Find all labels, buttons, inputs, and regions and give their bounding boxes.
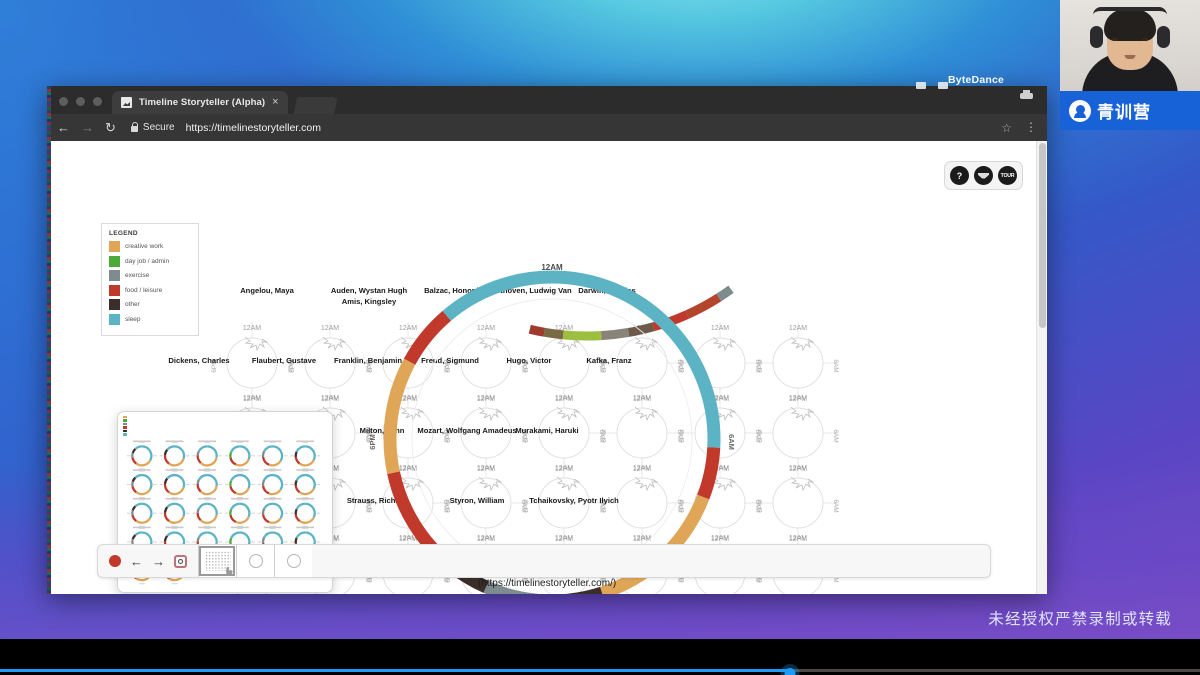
scene-ring-icon	[287, 554, 301, 568]
top-ring-segment[interactable]	[530, 329, 545, 332]
legend-item-label: food / leisure	[125, 287, 162, 294]
back-icon[interactable]: ←	[57, 121, 70, 134]
thumbnail-clock[interactable]	[160, 440, 190, 469]
thumbnail-ring-segment	[263, 480, 264, 486]
mini-clock: 12AM12PM6AM6PM	[757, 462, 839, 544]
thumbnail-ring-segment	[201, 515, 217, 523]
thumb-tick-left	[192, 513, 196, 514]
thumb-tick-right	[219, 541, 223, 542]
window-traffic-lights[interactable]	[55, 97, 112, 114]
thumbnail-ring-segment	[236, 488, 249, 494]
thumbnail-ring-segment	[300, 460, 314, 465]
ring-segment-sleep[interactable]	[552, 277, 714, 447]
headphone-left-icon	[1090, 26, 1103, 48]
ring-segment-other[interactable]	[569, 593, 602, 594]
preview-legend-swatch	[123, 416, 127, 418]
thumbnail-ring-segment	[201, 486, 217, 494]
clock-label-6pm: 6PM	[601, 429, 608, 442]
thumbnail-ring-segment	[240, 504, 250, 517]
video-progress-track[interactable]	[0, 669, 1200, 672]
thumb-tick-right	[153, 484, 157, 485]
thumbnail-clock[interactable]	[192, 498, 222, 527]
scene-thumbnail-2[interactable]	[236, 545, 274, 577]
person-name-label: Styron, William	[450, 496, 505, 505]
thumb-tick-top	[302, 442, 308, 443]
browser-url-bar: ← → ↻ Secure https://timelinestoryteller…	[47, 114, 1047, 141]
thumb-tick-right	[251, 484, 255, 485]
thumb-tick-left	[192, 484, 196, 485]
security-indicator: Secure	[131, 122, 175, 133]
thumb-tick-top	[237, 470, 243, 471]
thumbnail-ring-segment	[135, 475, 142, 478]
thumb-tick-right	[317, 541, 321, 542]
thumbnail-ring-segment	[198, 513, 201, 521]
thumbnail-ring-segment	[169, 516, 184, 523]
clock-scribble-icon	[401, 407, 423, 420]
screen-recording-frame: ByteDance Timeline Storyteller (Alpha) ×…	[0, 0, 1200, 675]
thumbnail-clock[interactable]	[258, 440, 288, 469]
hover-link-status: (https://timelinestoryteller.com/)	[47, 578, 1047, 589]
top-ring-segment[interactable]	[719, 289, 731, 297]
thumbnail-ring-segment	[231, 504, 240, 510]
thumb-tick-top	[204, 470, 210, 471]
clock-scribble-icon	[479, 407, 501, 420]
thumb-tick-left	[127, 541, 131, 542]
thumbnail-ring-segment	[133, 486, 137, 492]
thumb-tick-top	[270, 470, 276, 471]
thumbnail-ring-segment	[273, 446, 283, 461]
person-name-label: Murakami, Haruki	[515, 426, 578, 435]
clock-label-6pm: 6PM	[679, 429, 686, 442]
story-authoring-toolbar[interactable]: ← →	[97, 544, 991, 578]
desktop-icon-a	[916, 82, 926, 89]
thumbnail-ring-segment	[231, 532, 240, 538]
clock-scribble-icon	[479, 337, 501, 350]
thumbnail-clock[interactable]	[192, 440, 222, 469]
legend-item-label: sleep	[125, 316, 141, 323]
lock-icon	[131, 126, 138, 132]
export-icon	[978, 173, 989, 179]
thumbnail-ring-segment	[169, 487, 184, 494]
thumb-tick-right	[251, 513, 255, 514]
top-ring-segment[interactable]	[544, 332, 563, 335]
forward-icon[interactable]: →	[81, 121, 94, 134]
thumbnail-ring-segment	[296, 509, 297, 514]
thumbnail-ring-segment	[142, 475, 152, 489]
help-button[interactable]: ?	[950, 166, 969, 185]
thumbnail-ring-segment	[297, 504, 306, 509]
thumb-tick-left	[258, 541, 262, 542]
thumbnail-ring-segment	[231, 475, 240, 481]
thumbnail-ring-segment	[175, 446, 185, 458]
new-tab-button[interactable]	[294, 97, 338, 114]
thumb-tick-top	[270, 528, 276, 529]
legend-item[interactable]: creative work	[109, 241, 191, 252]
person-name-label: Amis, Kingsley	[342, 297, 397, 306]
thumb-tick-left	[290, 541, 294, 542]
thumb-tick-left	[225, 455, 229, 456]
thumbnail-ring-segment	[240, 446, 250, 459]
thumbnail-ring-segment	[167, 504, 174, 507]
legend-swatch-icon	[109, 285, 120, 296]
ring-segment-food---leisure[interactable]	[703, 447, 714, 497]
thumbnail-ring-segment	[135, 504, 142, 507]
browser-tab-timeline-storyteller[interactable]: Timeline Storyteller (Alpha) ×	[112, 91, 288, 114]
thumb-tick-left	[290, 513, 294, 514]
scene-grid-icon	[205, 551, 231, 571]
clock-label-12am: 12AM	[789, 325, 807, 332]
thumbnail-ring-segment	[198, 455, 201, 463]
thumbnail-ring-segment	[198, 537, 199, 541]
copyright-watermark: 未经授权严禁录制或转载	[988, 607, 1172, 629]
tab-title: Timeline Storyteller (Alpha)	[139, 97, 265, 108]
clock-label-12am: 12AM	[399, 325, 417, 332]
thumbnail-ring-segment	[231, 486, 236, 493]
thumbnail-ring-segment	[263, 514, 269, 522]
thumbnail-ring-segment	[207, 532, 217, 543]
legend-item-label: other	[125, 301, 140, 308]
thumbnail-ring-segment	[273, 504, 283, 519]
thumbnail-ring-segment	[305, 475, 315, 489]
page-scrollbar[interactable]	[1036, 141, 1047, 594]
thumbnail-ring-segment	[236, 459, 249, 465]
previous-scene-button[interactable]: ←	[130, 555, 143, 568]
thumbnail-clock[interactable]	[127, 440, 157, 469]
ring-segment-sleep[interactable]	[447, 277, 552, 316]
clock-label-12am: 12AM	[321, 325, 339, 332]
top-ring-segment[interactable]	[687, 298, 719, 315]
record-button[interactable]	[109, 555, 121, 567]
thumb-tick-top	[237, 442, 243, 443]
thumb-tick-top	[302, 470, 308, 471]
top-ring-segment[interactable]	[629, 327, 654, 333]
clock-label-6pm: 6PM	[757, 429, 764, 442]
clock-scribble-icon	[791, 407, 813, 420]
thumbnail-ring-segment	[269, 490, 281, 494]
address-input[interactable]: https://timelinestoryteller.com	[186, 122, 321, 134]
thumbnail-ring-segment	[165, 484, 169, 492]
thumbnail-ring-segment	[296, 457, 300, 463]
thumbnail-ring-segment	[231, 458, 236, 465]
browser-tab-bar: Timeline Storyteller (Alpha) ×	[47, 86, 1047, 114]
thumbnail-clock[interactable]	[192, 469, 222, 498]
close-window-dot[interactable]	[59, 97, 68, 106]
thumb-tick-right	[284, 513, 288, 514]
person-name-label: Flaubert, Gustave	[252, 356, 316, 365]
thumbnail-ring-segment	[165, 507, 167, 512]
window-edge-artifact	[47, 86, 51, 594]
thumbnail-ring-segment	[207, 446, 217, 457]
thumb-tick-left	[258, 484, 262, 485]
mini-clock: 12AM12PM6AM6PM	[757, 392, 839, 474]
clock-label-12am: 12AM	[243, 395, 261, 402]
clock-scribble-icon	[323, 337, 345, 350]
top-ring-segment[interactable]	[601, 332, 628, 335]
thumb-tick-top	[270, 442, 276, 443]
thumbnail-ring-segment	[207, 475, 217, 486]
clock-label-12am: 12AM	[711, 535, 729, 542]
close-icon[interactable]: ×	[272, 97, 278, 108]
next-scene-button[interactable]: →	[152, 555, 165, 568]
thumb-tick-left	[192, 541, 196, 542]
thumbnail-ring-segment	[133, 458, 137, 464]
clock-scribble-icon	[713, 477, 735, 490]
thumbnail-ring-segment	[296, 486, 300, 492]
legend-item[interactable]: exercise	[109, 270, 191, 281]
clock-label-6am: 6AM	[832, 499, 839, 512]
thumbnail-ring-segment	[136, 489, 150, 494]
person-name-label: Angelou, Maya	[240, 286, 294, 295]
thumb-tick-right	[219, 513, 223, 514]
clock-label-12am: 12AM	[243, 325, 261, 332]
thumb-tick-left	[258, 455, 262, 456]
clock-label-12am: 12AM	[633, 395, 651, 402]
thumb-tick-left	[192, 455, 196, 456]
thumbnail-clock[interactable]	[258, 469, 288, 498]
clock-label-12am: 12AM	[555, 395, 573, 402]
legend-item[interactable]: other	[109, 299, 191, 310]
thumb-tick-left	[127, 513, 131, 514]
video-player-bar[interactable]	[0, 639, 1200, 675]
thumb-tick-left	[225, 541, 229, 542]
thumbnail-ring-segment	[135, 532, 142, 535]
thumb-tick-top	[302, 528, 308, 529]
headphone-right-icon	[1157, 26, 1170, 48]
thumbnail-clock[interactable]	[290, 469, 320, 498]
scrollbar-thumb[interactable]	[1039, 143, 1046, 328]
thumbnail-ring-segment	[231, 446, 240, 452]
thumbnail-ring-segment	[296, 514, 300, 520]
thumbnail-ring-segment	[230, 481, 231, 486]
legend-swatch-icon	[109, 241, 120, 252]
person-name-label: Franklin, Benjamin	[334, 356, 402, 365]
person-name-label: Auden, Wystan Hugh	[331, 286, 408, 295]
thumb-tick-left	[160, 455, 164, 456]
thumbnail-ring-segment	[199, 532, 207, 537]
thumb-tick-top	[204, 442, 210, 443]
clock-scribble-icon	[635, 407, 657, 420]
thumbnail-ring-segment	[300, 489, 314, 494]
video-progress-handle[interactable]	[784, 668, 795, 675]
thumb-tick-top	[237, 528, 243, 529]
scene-thumbnail-3[interactable]	[274, 545, 312, 577]
export-button[interactable]	[974, 166, 993, 185]
printer-icon	[1020, 90, 1033, 100]
thumbnail-ring-segment	[135, 446, 142, 449]
thumb-tick-right	[186, 541, 190, 542]
thumbnail-ring-segment	[199, 446, 207, 451]
clock-scribble-icon	[791, 337, 813, 350]
thumb-tick-right	[153, 513, 157, 514]
thumb-tick-top	[204, 528, 210, 529]
top-ring-segment[interactable]	[563, 335, 601, 336]
legend-swatch-icon	[109, 270, 120, 281]
clock-label-12am: 12AM	[789, 535, 807, 542]
thumbnail-ring-segment	[264, 532, 272, 537]
clock-label-6am: 6AM	[832, 429, 839, 442]
clock-scribble-icon	[245, 337, 267, 350]
thumbnail-clock[interactable]	[160, 498, 190, 527]
thumbnail-ring-segment	[263, 451, 264, 457]
clock-scribble-icon	[557, 477, 579, 490]
thumb-tick-top	[139, 470, 145, 471]
clock-label-12am: 12AM	[789, 395, 807, 402]
clock-label-6pm: 6PM	[757, 499, 764, 512]
thumbnail-ring-segment	[199, 475, 207, 480]
thumb-tick-left	[127, 455, 131, 456]
thumbnail-ring-segment	[175, 504, 185, 516]
thumbnail-clock[interactable]	[290, 440, 320, 469]
clock-label-12am: 12AM	[477, 465, 495, 472]
thumbnail-ring-segment	[236, 517, 249, 523]
thumbnail-ring-segment	[167, 532, 174, 535]
person-name-label: Freud, Sigmund	[421, 356, 479, 365]
legend-swatch-icon	[109, 299, 120, 310]
web-page-content: 12AM12PM6AM6PM12AM12PM6AM6PM12AM12PM6AM6…	[47, 141, 1047, 594]
thumb-tick-top	[270, 499, 276, 500]
thumbnail-ring-segment	[264, 504, 272, 509]
thumb-tick-top	[172, 470, 178, 471]
thumbnail-ring-segment	[136, 518, 150, 523]
thumbnail-ring-segment	[305, 446, 315, 460]
thumb-tick-right	[186, 455, 190, 456]
thumbnail-clock[interactable]	[225, 498, 255, 527]
thumbnail-ring-segment	[296, 538, 297, 543]
browser-menu-icon[interactable]: ⋮	[1025, 123, 1037, 131]
clock-label-12am: 12AM	[477, 395, 495, 402]
mini-clock: 12AM12PM6AM6PM	[601, 392, 683, 474]
thumbnail-ring-segment	[165, 513, 169, 521]
thumbnail-ring-segment	[133, 449, 136, 453]
thumb-tick-right	[284, 541, 288, 542]
preview-legend-swatch	[123, 426, 127, 428]
main-clock-label-12am: 12AM	[541, 263, 563, 272]
main-clock-label-6pm: 6PM	[368, 434, 377, 449]
thumbnail-ring-segment	[165, 450, 167, 455]
reload-icon[interactable]: ↻	[105, 121, 116, 134]
thumb-tick-top	[172, 528, 178, 529]
thumb-tick-top	[237, 499, 243, 500]
person-name-label: Dickens, Charles	[168, 356, 229, 365]
thumbnail-ring-segment	[263, 486, 269, 494]
thumbnail-ring-segment	[133, 515, 137, 521]
thumbnail-ring-segment	[273, 475, 283, 490]
tab-favicon-icon	[121, 97, 132, 108]
thumb-tick-right	[284, 455, 288, 456]
desktop-icon-b	[938, 82, 948, 89]
thumbnail-clock[interactable]	[258, 498, 288, 527]
thumbnail-ring-segment	[142, 504, 152, 518]
thumbnail-ring-segment	[198, 451, 199, 455]
thumbnail-ring-segment	[198, 509, 199, 513]
thumb-tick-left	[258, 513, 262, 514]
clock-scribble-icon	[791, 477, 813, 490]
thumbnail-clock[interactable]	[127, 469, 157, 498]
thumbnail-ring-segment	[240, 475, 250, 488]
clock-label-12am: 12AM	[633, 465, 651, 472]
legend-item-label: exercise	[125, 272, 149, 279]
clock-label-12am: 12AM	[711, 325, 729, 332]
annotation-shape-button[interactable]	[174, 555, 187, 568]
maximize-window-dot[interactable]	[93, 97, 102, 106]
thumbnail-ring-segment	[297, 532, 306, 537]
thumbnail-ring-segment	[167, 475, 174, 478]
thumbnail-ring-segment	[133, 535, 136, 539]
scene-thumbnail-1[interactable]	[198, 545, 236, 577]
thumb-tick-right	[317, 513, 321, 514]
preview-legend-swatch	[123, 419, 127, 421]
preview-legend-swatch	[123, 430, 127, 432]
thumb-tick-right	[251, 541, 255, 542]
thumbnail-ring-segment	[133, 506, 136, 510]
bytedance-label: ByteDance	[948, 74, 1004, 86]
thumbnail-ring-segment	[296, 452, 297, 457]
person-name-label: Kafka, Franz	[586, 356, 631, 365]
browser-window: Timeline Storyteller (Alpha) × ← → ↻ Sec…	[47, 86, 1047, 594]
minimize-window-dot[interactable]	[76, 97, 85, 106]
clock-scribble-icon	[635, 477, 657, 490]
thumbnail-ring-segment	[169, 459, 184, 466]
thumb-tick-top	[172, 442, 178, 443]
thumb-tick-right	[284, 484, 288, 485]
clock-label-12am: 12AM	[789, 465, 807, 472]
clock-label-12am: 12AM	[555, 465, 573, 472]
clock-label-6pm: 6PM	[679, 499, 686, 512]
person-name-label: Tchaikovsky, Pyotr Ilyich	[529, 496, 619, 505]
clock-scribble-icon	[635, 337, 657, 350]
webcam-eye-right	[1142, 38, 1148, 41]
thumb-tick-left	[160, 541, 164, 542]
scene-ring-icon	[249, 554, 263, 568]
channel-brand-label: 青训营	[1097, 98, 1151, 123]
legend-title: LEGEND	[109, 230, 191, 237]
legend-item-label: creative work	[125, 243, 163, 250]
thumbnail-ring-segment	[269, 518, 281, 522]
clock-label-12am: 12AM	[477, 535, 495, 542]
thumbnail-ring-segment	[230, 538, 231, 543]
legend-item[interactable]: food / leisure	[109, 285, 191, 296]
legend-item[interactable]: sleep	[109, 314, 191, 325]
thumbnail-clock[interactable]	[290, 498, 320, 527]
viz-control-buttons[interactable]: ? TOUR	[944, 161, 1023, 190]
thumbnail-clock[interactable]	[225, 440, 255, 469]
channel-logo-icon	[1069, 100, 1091, 122]
video-progress-fill	[0, 669, 790, 672]
thumbnail-ring-segment	[201, 458, 217, 466]
thumbnail-ring-segment	[231, 515, 236, 522]
legend-swatch-icon	[109, 314, 120, 325]
bookmark-star-icon[interactable]: ☆	[1001, 121, 1012, 135]
thumbnail-ring-segment	[230, 452, 231, 457]
clock-label-6am: 6AM	[832, 359, 839, 372]
thumbnail-ring-segment	[230, 510, 231, 515]
thumbnail-ring-segment	[198, 484, 201, 492]
tour-button[interactable]: TOUR	[998, 166, 1017, 185]
thumbnail-clock[interactable]	[225, 469, 255, 498]
thumb-tick-top	[172, 499, 178, 500]
thumbnail-ring-segment	[175, 475, 185, 487]
thumbnail-ring-segment	[263, 537, 264, 543]
legend-item[interactable]: day job / admin	[109, 256, 191, 267]
thumbnail-ring-segment	[142, 446, 152, 460]
thumb-tick-left	[290, 455, 294, 456]
clock-scribble-icon	[479, 477, 501, 490]
thumb-tick-right	[219, 455, 223, 456]
thumb-tick-left	[225, 484, 229, 485]
thumbnail-clock[interactable]	[160, 469, 190, 498]
thumb-tick-right	[186, 513, 190, 514]
thumbnail-clock[interactable]	[127, 498, 157, 527]
